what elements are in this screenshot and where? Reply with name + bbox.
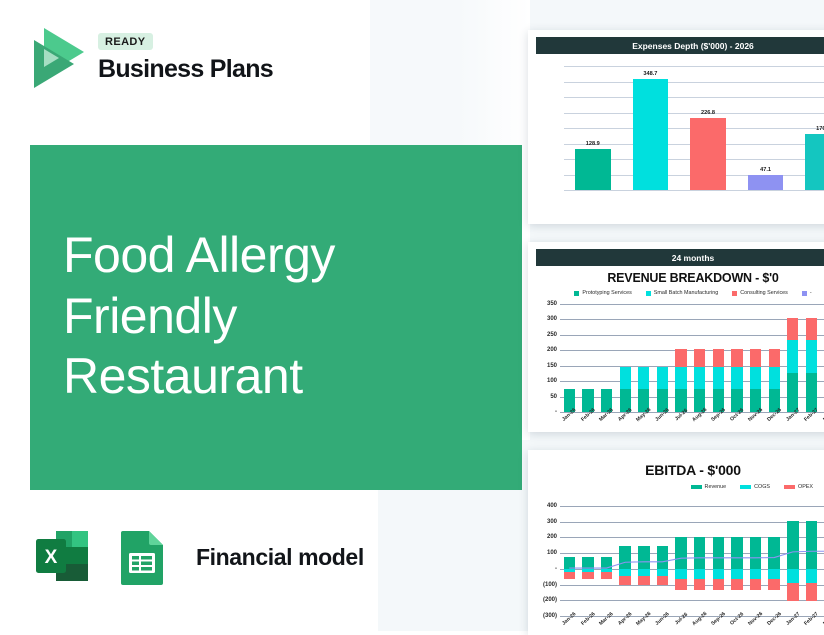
x-axis-slot: Feb-26: [579, 616, 598, 622]
bar-slot: [616, 304, 635, 412]
financial-model-label: Financial model: [196, 544, 364, 571]
bar-segment: [731, 349, 742, 368]
bar-slot: 176.5: [794, 66, 824, 190]
stacked-bar: [769, 349, 780, 412]
legend-swatch: [732, 291, 737, 296]
revenue-y-axis: 35030025020015010050-: [534, 304, 560, 412]
bar-slot: [765, 304, 784, 412]
bar-slot: [728, 304, 747, 412]
bar-segment: [675, 367, 686, 389]
x-axis-slot: Jul-26: [672, 412, 691, 418]
y-axis-tick: 150: [547, 363, 557, 369]
ebitda-chart-title: EBITDA - $'000: [528, 462, 824, 478]
legend-item: Prototyping Services: [574, 290, 631, 296]
chart-card-expenses: Expenses Depth ($'000) - 2026 128.9348.7…: [528, 30, 824, 224]
stacked-bar: [806, 318, 817, 412]
bar-segment: [806, 340, 817, 372]
bar-slot: [709, 304, 728, 412]
bar: 176.5: [805, 134, 824, 190]
stacked-bar: [694, 349, 705, 412]
bar-value-label: 47.1: [760, 167, 771, 173]
bar-slot: [746, 304, 765, 412]
y-axis-tick: 350: [547, 301, 557, 307]
y-axis-tick: 250: [547, 332, 557, 338]
x-axis-slot: Apr-26: [616, 616, 635, 622]
x-axis-slot: Nov-26: [746, 412, 765, 418]
svg-text:X: X: [45, 547, 58, 568]
bar-segment: [694, 349, 705, 368]
legend-swatch: [784, 485, 795, 489]
x-axis-slot: Jan-27: [784, 412, 803, 418]
bar-slot: 47.1: [737, 66, 795, 190]
revenue-legend: Prototyping ServicesSmall Batch Manufact…: [528, 290, 824, 296]
x-axis-slot: Feb-26: [579, 412, 598, 418]
x-axis-slot: Jun-26: [653, 616, 672, 622]
y-axis-tick: 300: [547, 316, 557, 322]
legend-item: OPEX: [784, 484, 813, 490]
legend-swatch: [691, 485, 702, 489]
bar-segment: [675, 349, 686, 368]
bar-value-label: 128.9: [586, 141, 600, 147]
legend-label: Revenue: [705, 484, 727, 490]
bar: 226.8: [690, 118, 726, 190]
excel-file-icon: X: [30, 525, 94, 589]
legend-item: Small Batch Manufacturing: [646, 290, 718, 296]
chart-card-revenue: 24 months REVENUE BREAKDOWN - $'0 Protot…: [528, 242, 824, 432]
legend-label: Prototyping Services: [582, 290, 631, 296]
legend-swatch: [646, 291, 651, 296]
legend-item: Consulting Services: [732, 290, 788, 296]
stacked-bar: [731, 349, 742, 412]
x-axis-slot: Apr-26: [616, 412, 635, 418]
bar-segment: [657, 367, 668, 389]
brand-text-block: READY Business Plans: [98, 32, 273, 84]
bar-slot: [802, 304, 821, 412]
y-axis-tick: 100: [547, 378, 557, 384]
y-axis-tick: 400: [547, 503, 557, 509]
stacked-bar: [657, 367, 668, 412]
legend-label: OPEX: [798, 484, 813, 490]
x-axis-slot: Feb-27: [802, 616, 821, 622]
bar-segment: [769, 367, 780, 389]
stacked-bar: [713, 349, 724, 412]
revenue-months-header: 24 months: [536, 249, 824, 266]
ready-badge: READY: [98, 33, 153, 50]
revenue-bars: [560, 304, 824, 412]
gridline: [564, 190, 824, 191]
y-axis-tick: 300: [547, 519, 557, 525]
bar-slot: [579, 304, 598, 412]
brand-name: Business Plans: [98, 55, 273, 84]
hero-panel: Food Allergy Friendly Restaurant: [30, 145, 522, 490]
legend-item: COGS: [740, 484, 770, 490]
bar-slot: 348.7: [622, 66, 680, 190]
bar-segment: [713, 367, 724, 389]
y-axis-tick: -: [555, 409, 557, 415]
legend-item: Revenue: [691, 484, 727, 490]
legend-item: -: [802, 290, 812, 296]
x-axis-slot: Jun-26: [653, 412, 672, 418]
x-axis-slot: Oct-26: [728, 616, 747, 622]
bar-slot: [690, 304, 709, 412]
bar-value-label: 348.7: [643, 71, 657, 77]
y-axis-tick: (200): [543, 597, 557, 603]
bar-segment: [769, 349, 780, 368]
x-axis-slot: Sep-26: [709, 412, 728, 418]
x-axis-slot: Jan-26: [560, 412, 579, 418]
legend-swatch: [802, 291, 807, 296]
stacked-bar: [638, 367, 649, 412]
y-axis-tick: -: [555, 566, 557, 572]
bar: 47.1: [748, 175, 784, 190]
bar-value-label: 176.5: [816, 126, 824, 132]
x-axis-slot: Mar-26: [597, 412, 616, 418]
bar-value-label: 226.8: [701, 110, 715, 116]
bar-segment: [694, 367, 705, 389]
bar: 128.9: [575, 149, 611, 190]
y-axis-tick: 200: [547, 347, 557, 353]
bar-segment: [806, 318, 817, 341]
legend-swatch: [574, 291, 579, 296]
bar-segment: [787, 340, 798, 372]
x-axis-slot: Jan-27: [784, 616, 803, 622]
bar-slot: [635, 304, 654, 412]
x-axis-slot: Jul-26: [672, 616, 691, 622]
bar-segment: [638, 367, 649, 389]
x-axis-slot: May-26: [635, 412, 654, 418]
bar-segment: [620, 367, 631, 389]
ebitda-legend: RevenueCOGSOPEX0: [528, 484, 824, 490]
x-axis-slot: Aug-26: [690, 616, 709, 622]
ebitda-y-axis: 400300200100-(100)(200)(300): [534, 506, 560, 616]
stacked-bar: [787, 318, 798, 412]
y-axis-tick: 100: [547, 550, 557, 556]
bar: 348.7: [633, 79, 669, 190]
bar-segment: [750, 367, 761, 389]
ebitda-x-axis: Jan-26Feb-26Mar-26Apr-26May-26Jun-26Jul-…: [560, 616, 824, 622]
x-axis-slot: May-26: [635, 616, 654, 622]
legend-label: -: [810, 290, 812, 296]
bar-slot: [560, 304, 579, 412]
google-sheets-file-icon: [110, 525, 174, 589]
x-axis-slot: Dec-26: [765, 412, 784, 418]
revenue-plot-area: 35030025020015010050- Jan-26Feb-26Mar-26…: [534, 304, 824, 412]
bar-segment: [713, 349, 724, 368]
bar-segment: [731, 367, 742, 389]
expenses-bars: 128.9348.7226.847.1176.5: [564, 66, 824, 190]
y-axis-tick: (300): [543, 613, 557, 619]
ebitda-zero-line-series: [560, 506, 824, 616]
x-axis-slot: Dec-26: [765, 616, 784, 622]
page-title: Food Allergy Friendly Restaurant: [63, 225, 493, 407]
bar-segment: [750, 349, 761, 368]
file-format-row: X Financial model: [30, 525, 364, 589]
legend-swatch: [740, 485, 751, 489]
revenue-x-axis: Jan-26Feb-26Mar-26Apr-26May-26Jun-26Jul-…: [560, 412, 824, 418]
stacked-bar: [675, 349, 686, 412]
x-axis-slot: Mar-26: [597, 616, 616, 622]
legend-label: Consulting Services: [740, 290, 788, 296]
play-triangle-logo-icon: [26, 22, 88, 94]
x-axis-slot: Oct-26: [728, 412, 747, 418]
y-axis-tick: (100): [543, 582, 557, 588]
bar-segment: [787, 318, 798, 341]
stacked-bar: [620, 367, 631, 412]
bar-slot: 128.9: [564, 66, 622, 190]
expenses-chart-title: Expenses Depth ($'000) - 2026: [536, 37, 824, 54]
stacked-bar: [750, 349, 761, 412]
revenue-chart-title: REVENUE BREAKDOWN - $'0: [528, 271, 824, 285]
brand-logo-area: READY Business Plans: [26, 22, 273, 94]
x-axis-slot: Sep-26: [709, 616, 728, 622]
bar-slot: 226.8: [679, 66, 737, 190]
chart-card-ebitda: EBITDA - $'000 RevenueCOGSOPEX0 40030020…: [528, 450, 824, 635]
x-axis-slot: Nov-26: [746, 616, 765, 622]
legend-label: Small Batch Manufacturing: [654, 290, 718, 296]
x-axis-slot: Jan-26: [560, 616, 579, 622]
bar-slot: [597, 304, 616, 412]
x-axis-slot: Aug-26: [690, 412, 709, 418]
bar-slot: [653, 304, 672, 412]
bar-slot: [784, 304, 803, 412]
bar-slot: [672, 304, 691, 412]
y-axis-tick: 200: [547, 534, 557, 540]
expenses-plot-area: 128.9348.7226.847.1176.5: [538, 66, 824, 190]
ebitda-plot-area: 400300200100-(100)(200)(300) Jan-26Feb-2…: [534, 506, 824, 616]
legend-label: COGS: [754, 484, 770, 490]
y-axis-tick: 50: [550, 394, 557, 400]
x-axis-slot: Feb-27: [802, 412, 821, 418]
